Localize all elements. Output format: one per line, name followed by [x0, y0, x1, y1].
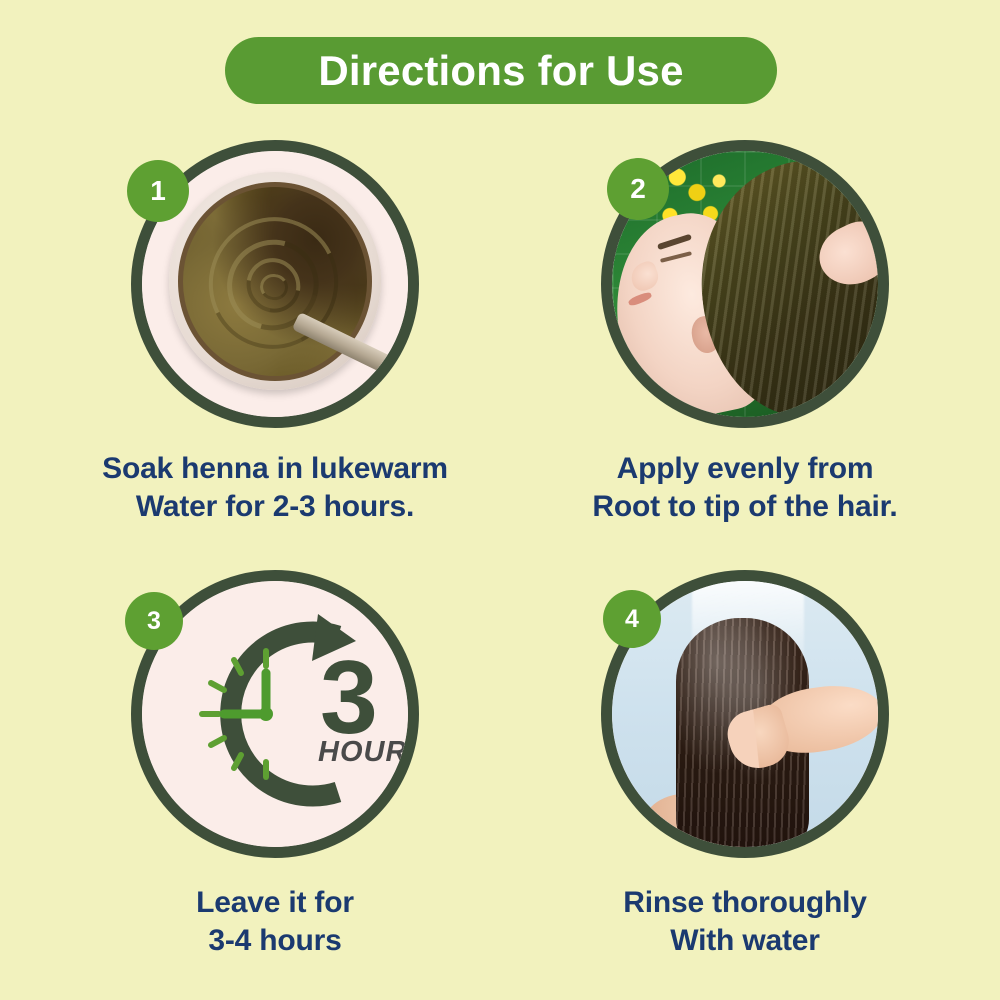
step-number-2: 2 [630, 173, 646, 205]
step-number-1: 1 [150, 175, 166, 207]
step-1-caption: Soak henna in lukewarm Water for 2-3 hou… [50, 450, 500, 526]
step-3-media: 3 HOURS 3 [131, 570, 419, 858]
step-1-caption-line2: Water for 2-3 hours. [50, 488, 500, 526]
step-3-caption-line2: 3-4 hours [50, 922, 500, 960]
page-title-banner: Directions for Use [225, 37, 777, 104]
step-card-2: 2 Apply evenly from Root to tip of the h… [520, 140, 970, 526]
step-4-caption-line2: With water [520, 922, 970, 960]
step-card-1: 1 Soak henna in lukewarm Water for 2-3 h… [50, 140, 500, 526]
clock-hours-label: HOURS [318, 736, 408, 768]
step-4-caption: Rinse thoroughly With water [520, 884, 970, 960]
step-number-4: 4 [625, 605, 639, 634]
step-number-badge-2: 2 [607, 158, 669, 220]
step-4-media: 4 [601, 570, 889, 858]
step-3-caption: Leave it for 3-4 hours [50, 884, 500, 960]
step-4-caption-line1: Rinse thoroughly [520, 884, 970, 922]
step-number-3: 3 [147, 607, 161, 636]
step-number-badge-4: 4 [603, 590, 661, 648]
step-card-4: 4 Rinse thoroughly With water [520, 570, 970, 960]
step-card-3: 3 HOURS 3 Leave it for 3-4 hours [50, 570, 500, 960]
step-2-caption: Apply evenly from Root to tip of the hai… [520, 450, 970, 526]
step-3-caption-line1: Leave it for [50, 884, 500, 922]
step-1-caption-line1: Soak henna in lukewarm [50, 450, 500, 488]
step-2-media: 2 [601, 140, 889, 428]
step-2-caption-line2: Root to tip of the hair. [520, 488, 970, 526]
step-number-badge-3: 3 [125, 592, 183, 650]
step-2-caption-line1: Apply evenly from [520, 450, 970, 488]
step-number-badge-1: 1 [127, 160, 189, 222]
page-title: Directions for Use [318, 50, 683, 92]
bowl-icon [169, 172, 382, 390]
step-1-media: 1 [131, 140, 419, 428]
